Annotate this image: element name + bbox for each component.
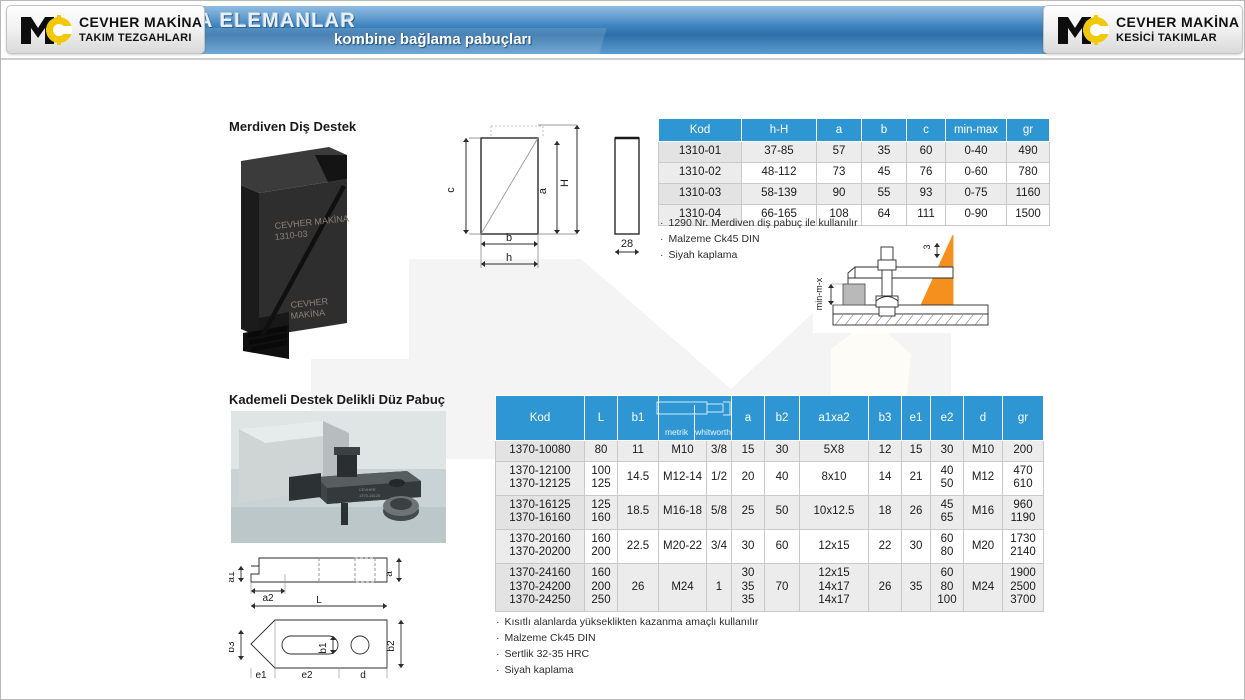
- th-min-max: min-max: [946, 119, 1007, 142]
- label-a1: a1: [229, 571, 237, 583]
- cell-whitworth: 3/4: [707, 529, 732, 563]
- logo-left-name: CEVHER MAKİNA: [79, 14, 202, 30]
- label-e2: e2: [301, 670, 313, 679]
- note-item: Sertlik 32-35 HRC: [496, 647, 758, 663]
- table2-header-row: Kod L b1 metrik whitworth a b2 a1xa: [496, 396, 1044, 441]
- screw-thread-icon: [656, 400, 734, 417]
- cell-e2: 30: [931, 441, 964, 462]
- label-h: h: [506, 252, 512, 264]
- cell-kod: 1370-12100 1370-12125: [496, 461, 585, 495]
- th-b2: b2: [765, 396, 800, 441]
- logo-right-tagline: KESİCİ TAKIMLAR: [1116, 32, 1217, 44]
- cell-a: 20: [732, 461, 765, 495]
- cell-whitworth: 5/8: [707, 495, 732, 529]
- table-row: 1370-12100 1370-12125 100 125 14.5 M12-1…: [496, 461, 1044, 495]
- cell-b3: 18: [869, 495, 902, 529]
- cell-h-H: 37-85: [742, 142, 817, 163]
- header-divider: [1, 58, 1245, 60]
- note-item: Malzeme Ck45 DIN: [496, 631, 758, 647]
- label-b2: b2: [386, 640, 397, 652]
- cell-e1: 15: [902, 441, 931, 462]
- section1-title: Merdiven Diş Destek: [229, 119, 356, 134]
- cell-gr: 490: [1007, 142, 1050, 163]
- label-a2: a2: [262, 593, 274, 604]
- cell-e1: 21: [902, 461, 931, 495]
- label-H: H: [559, 179, 571, 187]
- cell-L: 125 160: [585, 495, 618, 529]
- table1-header-row: Kod h-H a b c min-max gr: [659, 119, 1050, 142]
- cell-d: M24: [964, 563, 1003, 611]
- product-photo-stepped-wedge: CEVHER MAKİNA 1310-03 CEVHER MAKİNA: [229, 137, 409, 359]
- label-c: c: [445, 187, 457, 193]
- th-gr: gr: [1003, 396, 1044, 441]
- table-row: 1370-20160 1370-20200 160 200 22.5 M20-2…: [496, 529, 1044, 563]
- mc-gear-logo-icon: [1057, 15, 1109, 45]
- cell-e1: 35: [902, 563, 931, 611]
- cell-b: 35: [862, 142, 907, 163]
- label-min-m-x: min-m-x: [814, 277, 824, 310]
- svg-text:CEVHER: CEVHER: [359, 487, 376, 492]
- cell-metrik: M12-14: [659, 461, 707, 495]
- page-header: BAĞLAMA ELEMANLAR kombine bağlama pabuçl…: [1, 1, 1245, 58]
- cell-b2: 60: [765, 529, 800, 563]
- table-row: 1310-02 48-112 73 45 76 0-60 780: [659, 163, 1050, 184]
- table-row: 1310-01 37-85 57 35 60 0-40 490: [659, 142, 1050, 163]
- cell-b2: 40: [765, 461, 800, 495]
- cell-d: M20: [964, 529, 1003, 563]
- cell-a: 15: [732, 441, 765, 462]
- label-b: b: [506, 232, 512, 244]
- cell-L: 100 125: [585, 461, 618, 495]
- cell-kod: 1370-16125 1370-16160: [496, 495, 585, 529]
- table-row: 1370-16125 1370-16160 125 160 18.5 M16-1…: [496, 495, 1044, 529]
- cell-gr: 1160: [1007, 184, 1050, 205]
- cell-a: 90: [817, 184, 862, 205]
- cell-metrik: M20-22: [659, 529, 707, 563]
- cell-a: 25: [732, 495, 765, 529]
- cell-b1: 18.5: [618, 495, 659, 529]
- mc-gear-logo-icon: [20, 15, 72, 45]
- svg-text:1370-16125: 1370-16125: [359, 493, 381, 498]
- cell-gr: 1500: [1007, 205, 1050, 226]
- logo-left[interactable]: CEVHER MAKİNA TAKIM TEZGAHLARI: [6, 5, 205, 54]
- cell-L: 160 200: [585, 529, 618, 563]
- cell-a: 57: [817, 142, 862, 163]
- table-row: 1370-24160 1370-24200 1370-24250 160 200…: [496, 563, 1044, 611]
- cell-b3: 14: [869, 461, 902, 495]
- cell-e2: 60 80: [931, 529, 964, 563]
- cell-a: 30: [732, 529, 765, 563]
- cell-min-max: 0-60: [946, 163, 1007, 184]
- page-subtitle: kombine bağlama pabuçları: [334, 31, 532, 48]
- cell-e2: 60 80 100: [931, 563, 964, 611]
- cell-b2: 50: [765, 495, 800, 529]
- cell-c: 60: [907, 142, 946, 163]
- cell-c: 111: [907, 205, 946, 226]
- th-kod: Kod: [496, 396, 585, 441]
- cell-b: 55: [862, 184, 907, 205]
- label-e1: e1: [255, 670, 267, 679]
- cell-b1: 22.5: [618, 529, 659, 563]
- th-a: a: [817, 119, 862, 142]
- logo-right[interactable]: CEVHER MAKİNA KESİCİ TAKIMLAR: [1043, 5, 1243, 54]
- cell-c: 93: [907, 184, 946, 205]
- label-L: L: [316, 595, 322, 606]
- table-merdiven-dis-destek: Kod h-H a b c min-max gr 1310-01 37-85 5…: [658, 118, 1050, 226]
- cell-h-H: 58-139: [742, 184, 817, 205]
- cell-d: M12: [964, 461, 1003, 495]
- cell-metrik: M10: [659, 441, 707, 462]
- cell-kod: 1310-02: [659, 163, 742, 184]
- cell-a: 30 35 35: [732, 563, 765, 611]
- cell-b1: 14.5: [618, 461, 659, 495]
- th-b: b: [862, 119, 907, 142]
- cell-a1xa2: 12x15: [800, 529, 869, 563]
- th-b3: b3: [869, 396, 902, 441]
- th-a: a: [732, 396, 765, 441]
- table-kademeli-destek-duz-pabuc: Kod L b1 metrik whitworth a b2 a1xa: [495, 395, 1044, 612]
- logo-right-name: CEVHER MAKİNA: [1116, 14, 1239, 30]
- cell-e1: 26: [902, 495, 931, 529]
- th-h-H: h-H: [742, 119, 817, 142]
- cell-metrik: M16-18: [659, 495, 707, 529]
- cell-e1: 30: [902, 529, 931, 563]
- cell-kod: 1310-03: [659, 184, 742, 205]
- th-e2: e2: [931, 396, 964, 441]
- cell-b3: 12: [869, 441, 902, 462]
- cell-gr: 1900 2500 3700: [1003, 563, 1044, 611]
- cell-b2: 30: [765, 441, 800, 462]
- label-a: a: [384, 571, 395, 577]
- logo-left-tagline: TAKIM TEZGAHLARI: [79, 32, 192, 44]
- label-b1: b1: [318, 642, 329, 654]
- product-photo-step-clamp: CEVHER 1370-16125: [231, 411, 446, 543]
- cell-b3: 26: [869, 563, 902, 611]
- cell-min-max: 0-40: [946, 142, 1007, 163]
- cell-e2: 45 65: [931, 495, 964, 529]
- cell-whitworth: 1/2: [707, 461, 732, 495]
- cell-b2: 70: [765, 563, 800, 611]
- cell-e2: 40 50: [931, 461, 964, 495]
- cell-b: 45: [862, 163, 907, 184]
- label-3: 3: [922, 244, 932, 249]
- catalog-page: BAĞLAMA ELEMANLAR kombine bağlama pabuçl…: [0, 0, 1245, 700]
- cell-gr: 200: [1003, 441, 1044, 462]
- cell-c: 76: [907, 163, 946, 184]
- cell-b3: 22: [869, 529, 902, 563]
- cell-d: M16: [964, 495, 1003, 529]
- cell-kod: 1370-20160 1370-20200: [496, 529, 585, 563]
- cell-d: M10: [964, 441, 1003, 462]
- th-e1: e1: [902, 396, 931, 441]
- cell-a1xa2: 10x12.5: [800, 495, 869, 529]
- section2-notes: Kısıtlı alanlarda yükseklikten kazanma a…: [496, 615, 758, 679]
- cell-whitworth: 1: [707, 563, 732, 611]
- th-c: c: [907, 119, 946, 142]
- label-28: 28: [621, 238, 633, 250]
- cell-h-H: 48-112: [742, 163, 817, 184]
- cell-whitworth: 3/8: [707, 441, 732, 462]
- cell-kod: 1370-10080: [496, 441, 585, 462]
- table-row: 1370-10080 80 11 M10 3/8 15 30 5X8 12 15…: [496, 441, 1044, 462]
- section2-title: Kademeli Destek Delikli Düz Pabuç: [229, 392, 445, 407]
- section1-application-drawing: min-m-x 3: [813, 227, 991, 333]
- cell-b1: 11: [618, 441, 659, 462]
- cell-L: 80: [585, 441, 618, 462]
- table-row: 1310-03 58-139 90 55 93 0-75 1160: [659, 184, 1050, 205]
- th-L: L: [585, 396, 618, 441]
- cell-L: 160 200 250: [585, 563, 618, 611]
- cell-kod: 1310-01: [659, 142, 742, 163]
- th-b1: b1: [618, 396, 659, 441]
- cell-gr: 960 1190: [1003, 495, 1044, 529]
- label-a: a: [537, 187, 549, 194]
- label-b3: b3: [229, 641, 237, 653]
- cell-min-max: 0-75: [946, 184, 1007, 205]
- cell-a1xa2: 12x15 14x17 14x17: [800, 563, 869, 611]
- cell-gr: 1730 2140: [1003, 529, 1044, 563]
- cell-b: 64: [862, 205, 907, 226]
- th-kod: Kod: [659, 119, 742, 142]
- note-item: Siyah kaplama: [496, 663, 758, 679]
- th-a1xa2: a1xa2: [800, 396, 869, 441]
- section1-dimension-drawing: c a H b h 28: [433, 113, 659, 293]
- cell-gr: 780: [1007, 163, 1050, 184]
- cell-gr: 470 610: [1003, 461, 1044, 495]
- th-thread-group: metrik whitworth: [659, 396, 732, 441]
- cell-min-max: 0-90: [946, 205, 1007, 226]
- label-d: d: [360, 670, 366, 679]
- cell-a: 73: [817, 163, 862, 184]
- th-gr: gr: [1007, 119, 1050, 142]
- cell-metrik: M24: [659, 563, 707, 611]
- th-d: d: [964, 396, 1003, 441]
- cell-kod: 1370-24160 1370-24200 1370-24250: [496, 563, 585, 611]
- note-item: Kısıtlı alanlarda yükseklikten kazanma a…: [496, 615, 758, 631]
- cell-a1xa2: 5X8: [800, 441, 869, 462]
- section2-dimension-drawing: a1 a2 a L b3 b1 b2 e1 e2 d: [229, 544, 429, 679]
- cell-a1xa2: 8x10: [800, 461, 869, 495]
- cell-b1: 26: [618, 563, 659, 611]
